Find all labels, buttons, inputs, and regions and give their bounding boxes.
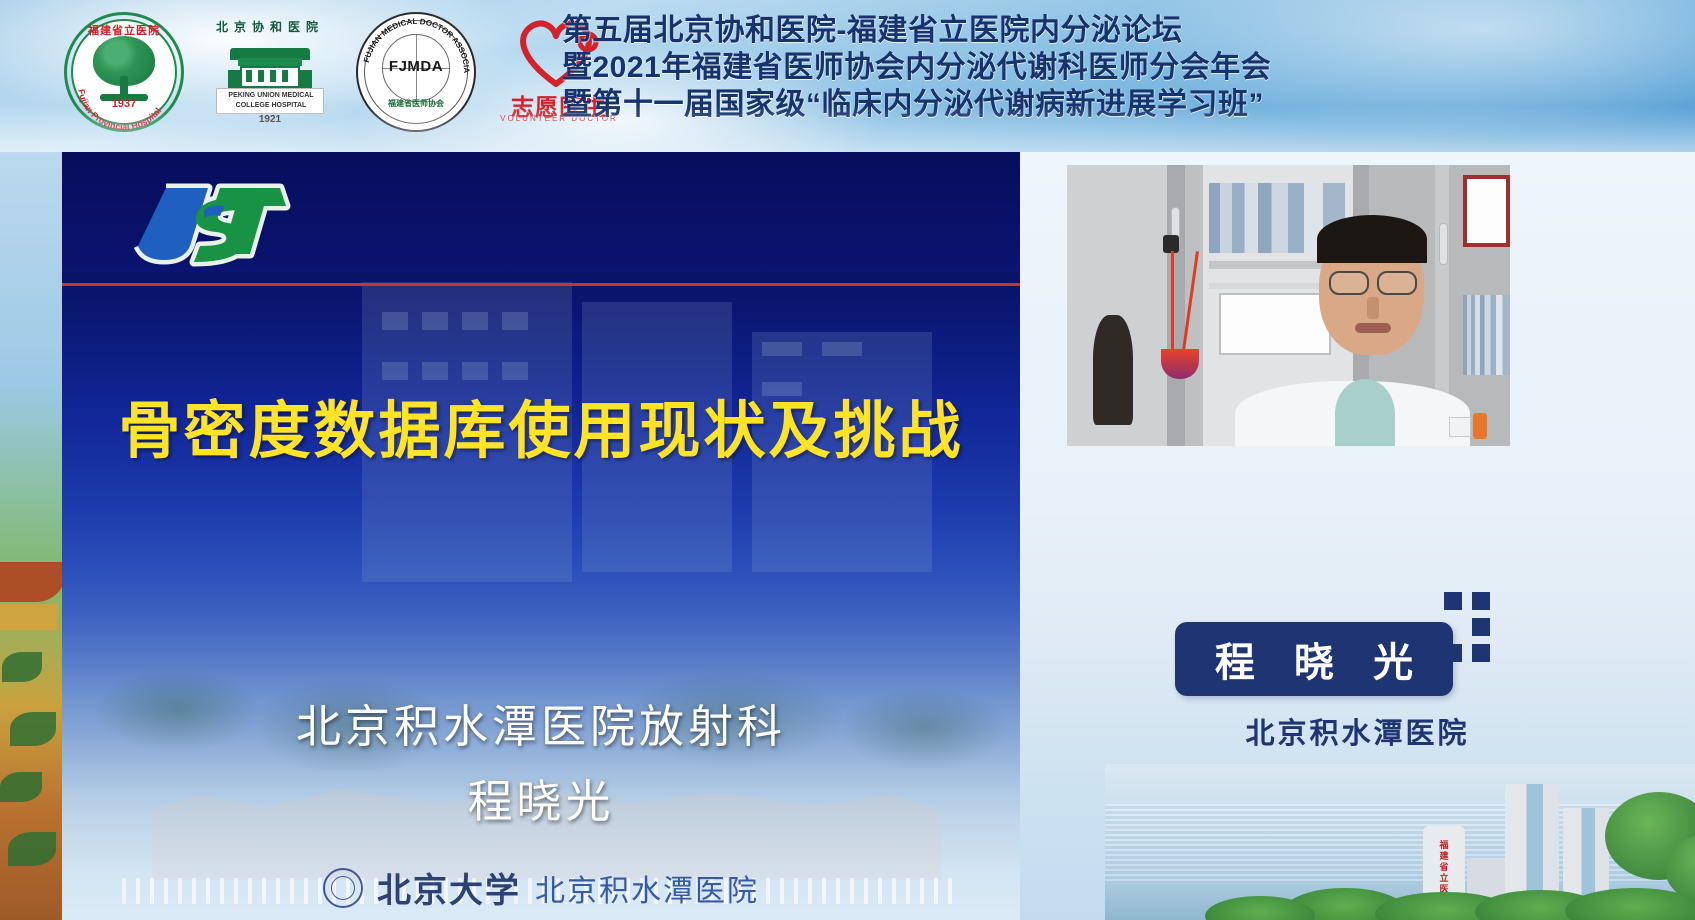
decorative-square-4 <box>1444 644 1462 662</box>
pumch-en-text: PEKING UNION MEDICAL COLLEGE HOSPITAL <box>217 91 325 111</box>
volunteer-doctor-en: VOLUNTEER DOCTOR <box>500 114 618 123</box>
decorative-square-3 <box>1472 618 1490 636</box>
left-decorative-strip <box>0 152 62 920</box>
event-title-line-2: 暨2021年福建省医师协会内分泌代谢科医师分会年会 <box>562 49 1682 86</box>
decorative-square-1 <box>1444 592 1462 610</box>
jst-logo <box>104 180 344 270</box>
speaker-video-feed[interactable] <box>1067 165 1510 446</box>
speaker-name: 程 晓 光 <box>1201 630 1427 688</box>
speaker-panel: 程 晓 光 北京积水潭医院 福建省立医院 <box>1020 152 1695 920</box>
speaker-nameplate: 程 晓 光 <box>1175 622 1453 696</box>
pumch-cn-text: 北京协和医院 <box>208 18 332 35</box>
presentation-slide[interactable]: 骨密度数据库使用现状及挑战 北京积水潭医院放射科 程晓光 北京大学 北京积水潭医… <box>62 152 1020 920</box>
event-banner: 福建省立医院 1937 Fujian Provincial Hospital 北… <box>0 0 1695 152</box>
slide-title: 骨密度数据库使用现状及挑战 <box>62 380 1020 470</box>
pumch-year: 1921 <box>208 114 332 125</box>
sponsor-logo-row: 福建省立医院 1937 Fujian Provincial Hospital 北… <box>62 10 618 134</box>
fjmda-en-text: FUJIAN MEDICAL DOCTOR ASSOCIATION <box>354 10 471 74</box>
slide-affiliation: 北京积水潭医院放射科 <box>62 690 1020 755</box>
slide-divider-rule <box>62 283 1020 286</box>
decorative-square-2 <box>1472 592 1490 610</box>
hall-building-icon <box>228 48 312 90</box>
decorative-square-5 <box>1472 644 1490 662</box>
slide-footer-watermarks: 北京大学 北京积水潭医院 <box>62 863 1020 912</box>
jishuitan-hospital-label: 北京积水潭医院 <box>535 866 759 910</box>
fujian-hospital-photo: 福建省立医院 <box>1105 764 1695 920</box>
fujian-provincial-hospital-logo: 福建省立医院 1937 Fujian Provincial Hospital <box>62 10 186 134</box>
svg-text:FUJIAN MEDICAL DOCTOR ASSOCIAT: FUJIAN MEDICAL DOCTOR ASSOCIATION <box>354 10 471 74</box>
slide-presenter-name: 程晓光 <box>62 765 1020 830</box>
pumch-logo: 北京协和医院 PEKING UNION MEDICAL COLLEGE HOS <box>208 10 332 134</box>
fjmda-logo: FJMDA 福建省医师协会 FUJIAN MEDICAL DOCTOR ASSO… <box>354 10 478 134</box>
speaker-affiliation: 北京积水潭医院 <box>1020 710 1695 752</box>
peking-university-label: 北京大学 <box>377 863 521 912</box>
peking-university-seal-icon <box>323 868 363 908</box>
broadcast-stage: 福建省立医院 1937 Fujian Provincial Hospital 北… <box>0 0 1695 920</box>
event-title-line-3: 暨第十一届国家级“临床内分泌代谢病新进展学习班” <box>562 86 1682 123</box>
fph-en-text: Fujian Provincial Hospital <box>76 88 163 132</box>
event-title-line-1: 第五届北京协和医院-福建省立医院内分泌论坛 <box>562 12 1682 49</box>
svg-text:Fujian Provincial Hospital: Fujian Provincial Hospital <box>76 88 163 132</box>
event-title: 第五届北京协和医院-福建省立医院内分泌论坛 暨2021年福建省医师协会内分泌代谢… <box>562 12 1682 124</box>
